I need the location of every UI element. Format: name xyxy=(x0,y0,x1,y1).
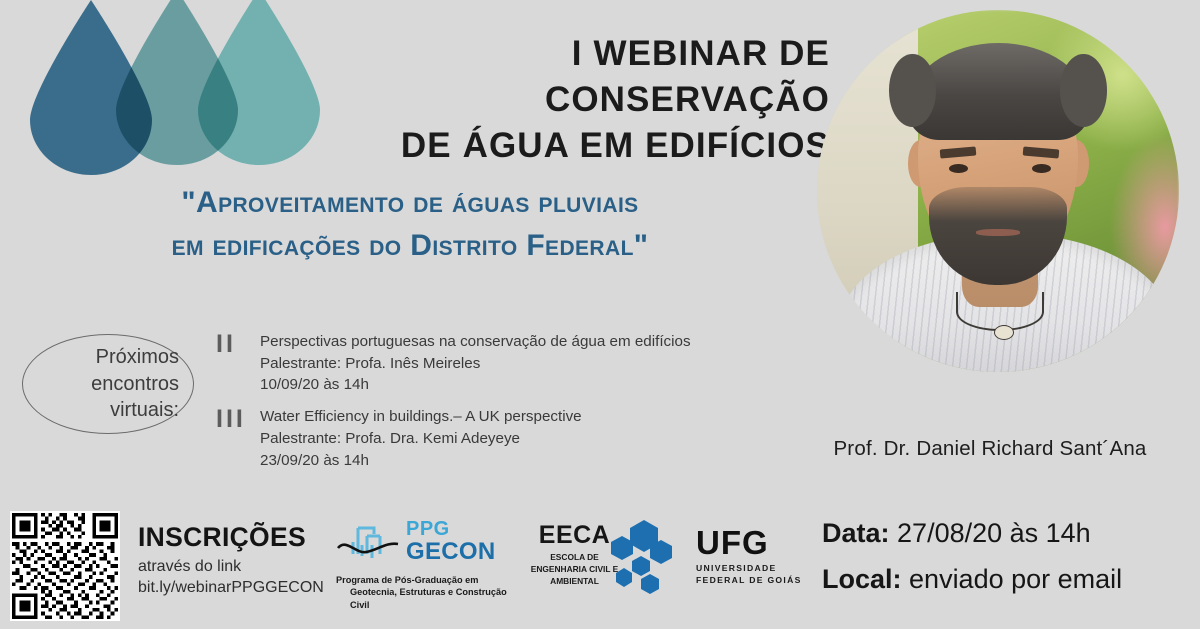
photo-eye-right xyxy=(1032,164,1051,173)
event-date-row: Data: 27/08/20 às 14h xyxy=(822,519,1122,549)
ppg-name-line-1: PPG xyxy=(406,519,496,539)
event-numeral: II xyxy=(216,331,260,396)
registration-block: INSCRIÇÕES através do link bit.ly/webina… xyxy=(138,523,338,598)
event-numeral: III xyxy=(216,406,260,471)
title-line-2: DE ÁGUA EM EDIFÍCIOS xyxy=(290,123,830,169)
webinar-poster: I WEBINAR DE CONSERVAÇÃO DE ÁGUA EM EDIF… xyxy=(0,0,1200,629)
list-item: III Water Efficiency in buildings.– A UK… xyxy=(216,406,776,471)
place-value: enviado por email xyxy=(909,564,1122,594)
ppg-caption-line-1: Programa de Pós-Graduação em xyxy=(336,575,478,585)
ppg-name-line-2: GECON xyxy=(406,540,496,564)
event-title: Perspectivas portuguesas na conservação … xyxy=(260,331,776,353)
next-events-label-line-3: virtuais: xyxy=(110,397,179,424)
ppg-gecon-logo: PPG GECON Programa de Pós-Graduação em G… xyxy=(336,512,526,611)
page-title: I WEBINAR DE CONSERVAÇÃO DE ÁGUA EM EDIF… xyxy=(290,31,830,170)
next-events-list: II Perspectivas portuguesas na conservaç… xyxy=(216,331,776,481)
event-speaker: Palestrante: Profa. Inês Meireles xyxy=(260,353,776,375)
event-place-row: Local: enviado por email xyxy=(822,565,1122,595)
place-label: Local: xyxy=(822,564,902,594)
qr-code-icon xyxy=(12,513,118,619)
photo-mouth xyxy=(976,229,1019,236)
next-events-label: Próximos encontros virtuais: xyxy=(22,334,194,434)
ufg-logo: UFG UNIVERSIDADE FEDERAL DE GOIÁS xyxy=(608,518,802,594)
event-title: Water Efficiency in buildings.– A UK per… xyxy=(260,406,776,428)
event-datetime: 10/09/20 às 14h xyxy=(260,374,776,396)
date-label: Data: xyxy=(822,518,890,548)
ppg-building-wave-icon xyxy=(336,512,402,570)
event-speaker: Palestrante: Profa. Dra. Kemi Adeyeye xyxy=(260,428,776,450)
list-item: II Perspectivas portuguesas na conservaç… xyxy=(216,331,776,396)
ufg-sub-line-1: UNIVERSIDADE xyxy=(696,562,802,574)
registration-title: INSCRIÇÕES xyxy=(138,523,338,552)
speaker-name: Prof. Dr. Daniel Richard Sant´Ana xyxy=(790,437,1190,461)
event-datetime: 23/09/20 às 14h xyxy=(260,450,776,472)
ufg-sub-line-2: FEDERAL DE GOIÁS xyxy=(696,574,802,586)
talk-subtitle: "Aproveitamento de águas pluviais em edi… xyxy=(60,182,760,267)
event-details: Data: 27/08/20 às 14h Local: enviado por… xyxy=(822,519,1122,610)
ufg-acronym: UFG xyxy=(696,526,802,559)
qr-code[interactable] xyxy=(10,511,120,621)
ufg-hexagon-cluster-icon xyxy=(608,518,690,594)
water-droplets-logo xyxy=(18,0,308,186)
ppg-caption-line-2: Geotecnia, Estruturas e Construção Civil xyxy=(336,586,526,611)
registration-sub-line-1: através do link xyxy=(138,556,338,577)
title-line-1: I WEBINAR DE CONSERVAÇÃO xyxy=(290,31,830,123)
next-events-label-line-2: encontros xyxy=(91,371,179,398)
date-value: 27/08/20 às 14h xyxy=(897,518,1091,548)
registration-link[interactable]: bit.ly/webinarPPGGECON xyxy=(138,577,338,598)
subtitle-line-1: "Aproveitamento de águas pluviais xyxy=(181,186,638,219)
speaker-portrait-photo xyxy=(817,10,1179,372)
subtitle-line-2: em edificações do Distrito Federal" xyxy=(60,225,760,268)
next-events-label-line-1: Próximos xyxy=(96,344,179,371)
